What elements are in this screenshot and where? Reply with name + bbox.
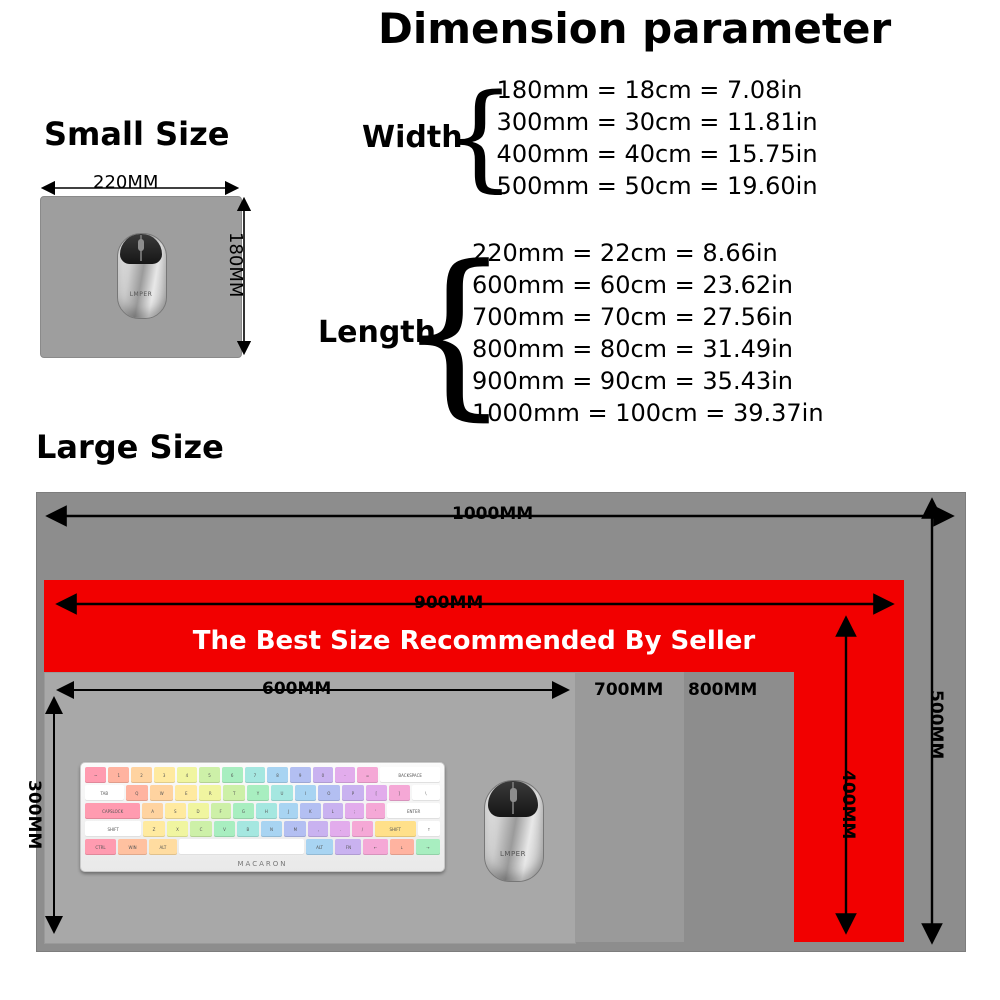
key: 9	[290, 767, 311, 783]
key-alt: ALT	[149, 839, 177, 855]
red-width-label: 900MM	[414, 593, 483, 613]
key: V	[214, 821, 235, 837]
key: P	[342, 785, 364, 801]
key: T	[223, 785, 245, 801]
small-size-heading: Small Size	[44, 115, 229, 153]
key: =	[357, 767, 378, 783]
key: 4	[177, 767, 198, 783]
length-row-2: 700mm = 70cm = 27.56in	[472, 301, 824, 333]
key: 0	[313, 767, 334, 783]
key-win: WIN	[118, 839, 147, 855]
outer-width-label: 1000MM	[452, 504, 533, 524]
key: R	[199, 785, 221, 801]
key-arrow-right: →	[416, 839, 440, 855]
sub-800-label: 800MM	[688, 680, 757, 700]
key-backspace: BACKSPACE	[380, 767, 440, 783]
red-height-label: 400MM	[838, 770, 858, 839]
key: U	[271, 785, 293, 801]
key: C	[190, 821, 212, 837]
key: \	[412, 785, 440, 801]
length-brace-icon: {	[436, 230, 472, 435]
keyboard-row: SHIFT Z X C V B N M , . / SHIFT ↑	[85, 821, 440, 837]
key-space	[179, 839, 304, 855]
keyboard-row: CAPSLOCK A S D F G H J K L ; ' ENTER	[85, 803, 440, 819]
mouse-icon: LMPER	[117, 233, 165, 317]
key: Y	[247, 785, 269, 801]
key: A	[142, 803, 163, 819]
key: 5	[199, 767, 220, 783]
key: 6	[222, 767, 243, 783]
key: L	[323, 803, 343, 819]
key: ]	[389, 785, 410, 801]
length-row-4: 900mm = 90cm = 35.43in	[472, 365, 824, 397]
key: M	[284, 821, 306, 837]
key: S	[165, 803, 186, 819]
length-row-0: 220mm = 22cm = 8.66in	[472, 237, 824, 269]
key: O	[318, 785, 340, 801]
key-tab: TAB	[85, 785, 124, 801]
key: W	[150, 785, 173, 801]
key-alt-right: ALT	[306, 839, 334, 855]
length-row-5: 1000mm = 100cm = 39.37in	[472, 397, 824, 429]
length-row-1: 600mm = 60cm = 23.62in	[472, 269, 824, 301]
key: Q	[126, 785, 148, 801]
width-brace-icon: {	[463, 70, 497, 205]
small-mousepad: LMPER	[40, 196, 242, 358]
key: /	[352, 821, 372, 837]
keyboard-graphic: ~ 1 2 3 4 5 6 7 8 9 0 - = BACKSPACE TAB …	[80, 762, 445, 872]
key-arrow-down: ↓	[390, 839, 414, 855]
key: H	[256, 803, 277, 819]
key: D	[188, 803, 209, 819]
key: 2	[131, 767, 152, 783]
key: B	[237, 821, 258, 837]
key-capslock: CAPSLOCK	[85, 803, 140, 819]
key: N	[261, 821, 283, 837]
width-row-3: 500mm = 50cm = 19.60in	[497, 170, 818, 202]
large-size-heading: Large Size	[36, 428, 224, 466]
key: '	[366, 803, 385, 819]
outer-height-label: 500MM	[926, 690, 946, 759]
mouse-brand-label-large: LMPER	[484, 850, 542, 858]
sub-height-label: 300MM	[24, 780, 44, 849]
width-row-0: 180mm = 18cm = 7.08in	[497, 74, 818, 106]
key-shift-right: SHIFT	[375, 821, 416, 837]
key: Z	[143, 821, 164, 837]
keyboard-brand-label: MACARON	[81, 860, 444, 868]
key: 3	[154, 767, 175, 783]
key: F	[211, 803, 231, 819]
width-row-1: 300mm = 30cm = 11.81in	[497, 106, 818, 138]
best-size-text: The Best Size Recommended By Seller	[0, 626, 948, 656]
key-arrow-left: ←	[363, 839, 387, 855]
mouse-icon-large: LMPER	[484, 780, 542, 880]
key: [	[366, 785, 387, 801]
key-arrow-up: ↑	[418, 821, 440, 837]
width-row-2: 400mm = 40cm = 15.75in	[497, 138, 818, 170]
key: K	[300, 803, 321, 819]
key: .	[330, 821, 350, 837]
keyboard-row: TAB Q W E R T Y U I O P [ ] \	[85, 785, 440, 801]
key: G	[233, 803, 254, 819]
page-title: Dimension parameter	[378, 4, 891, 53]
sub-600-label: 600MM	[262, 679, 331, 699]
key: ,	[308, 821, 328, 837]
key-ctrl: CTRL	[85, 839, 116, 855]
key-shift-left: SHIFT	[85, 821, 141, 837]
key: E	[175, 785, 197, 801]
length-spec-group: Length { 220mm = 22cm = 8.66in 600mm = 6…	[318, 230, 824, 435]
key: I	[295, 785, 316, 801]
width-rows: 180mm = 18cm = 7.08in 300mm = 30cm = 11.…	[497, 74, 818, 202]
sub-700-label: 700MM	[594, 680, 663, 700]
key: ;	[345, 803, 364, 819]
key: 8	[267, 767, 288, 783]
length-rows: 220mm = 22cm = 8.66in 600mm = 60cm = 23.…	[472, 237, 824, 429]
key: 7	[245, 767, 266, 783]
key: -	[335, 767, 355, 783]
key: ~	[85, 767, 106, 783]
keyboard-row: ~ 1 2 3 4 5 6 7 8 9 0 - = BACKSPACE	[85, 767, 440, 783]
keyboard-row: CTRL WIN ALT ALT FN ← ↓ →	[85, 839, 440, 855]
key: X	[167, 821, 188, 837]
small-width-label: 220MM	[93, 172, 158, 193]
key-enter: ENTER	[387, 803, 440, 819]
length-row-3: 800mm = 80cm = 31.49in	[472, 333, 824, 365]
small-height-label: 180MM	[225, 232, 246, 297]
mouse-brand-label: LMPER	[117, 291, 165, 298]
key-fn: FN	[335, 839, 361, 855]
key: 1	[108, 767, 129, 783]
width-spec-group: Width { 180mm = 18cm = 7.08in 300mm = 30…	[362, 70, 818, 205]
key: J	[279, 803, 298, 819]
